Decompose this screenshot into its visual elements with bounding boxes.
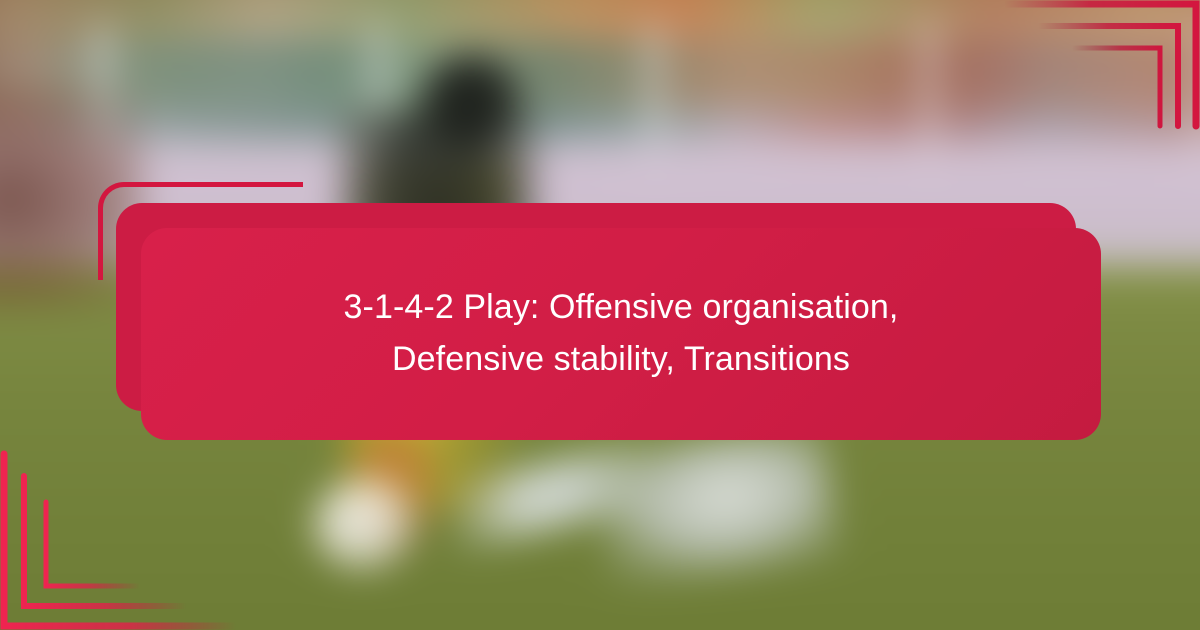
- page-title: 3-1-4-2 Play: Offensive organisation, De…: [301, 282, 941, 385]
- share-card-canvas: 3-1-4-2 Play: Offensive organisation, De…: [0, 0, 1200, 630]
- headline-card-stack: 3-1-4-2 Play: Offensive organisation, De…: [0, 0, 1200, 630]
- headline-card-content: 3-1-4-2 Play: Offensive organisation, De…: [141, 228, 1101, 440]
